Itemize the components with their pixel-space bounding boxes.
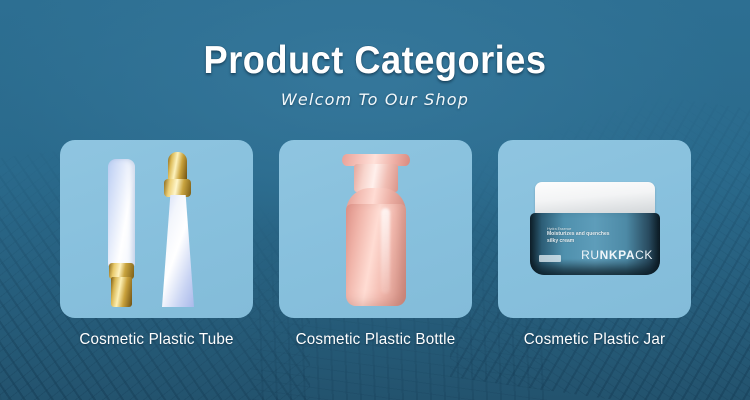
category-card-list: Cosmetic Plastic Tube Cosmetic Plastic B… (60, 140, 692, 349)
jar-label-tag (539, 255, 561, 262)
jar-brand-text: RUNKPACK (581, 248, 653, 262)
category-card-tube[interactable]: Cosmetic Plastic Tube (60, 140, 253, 349)
cosmetic-jar-icon: Hydra Essence Moisturizes and quenches s… (527, 182, 663, 278)
jar-body (530, 213, 660, 275)
tube-gold-cap (111, 277, 132, 307)
brand-part-prefix: RU (581, 248, 600, 262)
brand-part-suffix: CK (635, 248, 653, 262)
product-categories-banner: Product Categories Welcom To Our Shop Co… (0, 0, 750, 400)
tube-tapered-body (162, 195, 194, 307)
jar-label: Hydra Essence Moisturizes and quenches s… (547, 227, 639, 244)
card-caption: Cosmetic Plastic Tube (65, 331, 248, 349)
card-caption: Cosmetic Plastic Jar (503, 331, 686, 349)
jar-label-line1: Hydra Essence (547, 227, 639, 231)
page-title: Product Categories (26, 40, 724, 82)
banner-heading: Product Categories Welcom To Our Shop (0, 40, 750, 109)
card-image-bottle[interactable] (279, 140, 472, 318)
jar-label-line3: silky cream (547, 238, 639, 244)
pink-bottle-icon (337, 154, 415, 306)
tube-body (108, 159, 135, 267)
bottle-highlight (381, 208, 390, 294)
brand-part-mid: NKPA (600, 248, 636, 262)
category-card-jar[interactable]: Hydra Essence Moisturizes and quenches s… (498, 140, 691, 349)
cosmetic-tube-right-icon (156, 152, 200, 308)
card-image-jar[interactable]: Hydra Essence Moisturizes and quenches s… (498, 140, 691, 318)
tube-dome-cap (168, 152, 187, 181)
bottle-body (346, 204, 406, 306)
card-caption: Cosmetic Plastic Bottle (284, 331, 467, 349)
category-card-bottle[interactable]: Cosmetic Plastic Bottle (279, 140, 472, 349)
page-subtitle: Welcom To Our Shop (0, 90, 750, 109)
jar-lid (535, 182, 655, 216)
cosmetic-tube-left-icon (106, 159, 137, 305)
tube-gold-collar (164, 179, 191, 197)
card-image-tube[interactable] (60, 140, 253, 318)
